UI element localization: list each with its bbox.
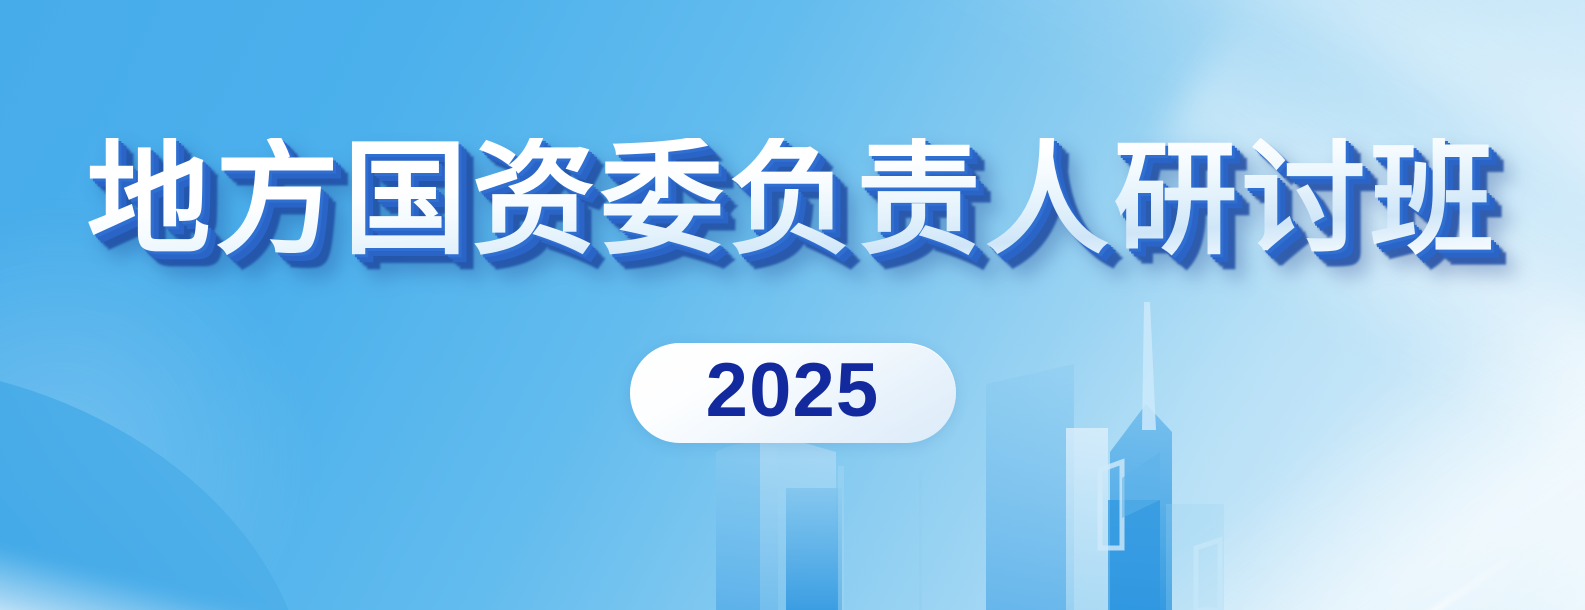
building-right-small: [1196, 540, 1220, 610]
bottom-right-thin-line: [1269, 551, 1521, 610]
year-badge: 2025: [630, 343, 956, 443]
building-left-front: [786, 488, 842, 610]
bottom-right-light-streak: [1046, 285, 1585, 610]
year-badge-container: 2025: [0, 343, 1585, 443]
building-left-edge: [838, 466, 844, 610]
building-right-faint: [1166, 504, 1224, 610]
page-title: 地方国资委负责人研讨班: [87, 138, 1499, 262]
building-left-rounded: [716, 443, 778, 610]
building-mid-pale: [1066, 428, 1108, 610]
building-facet-detail: [1122, 452, 1160, 518]
seminar-banner: 地方国资委负责人研讨班 2025: [0, 0, 1585, 610]
year-badge-label: 2025: [706, 353, 880, 433]
building-spire-base: [1108, 500, 1160, 610]
banner-title-container: 地方国资委负责人研讨班: [0, 138, 1585, 262]
building-left-slab: [760, 430, 836, 610]
thin-mast-icon: [919, 470, 922, 610]
glass-frame-detail: [1100, 462, 1122, 548]
